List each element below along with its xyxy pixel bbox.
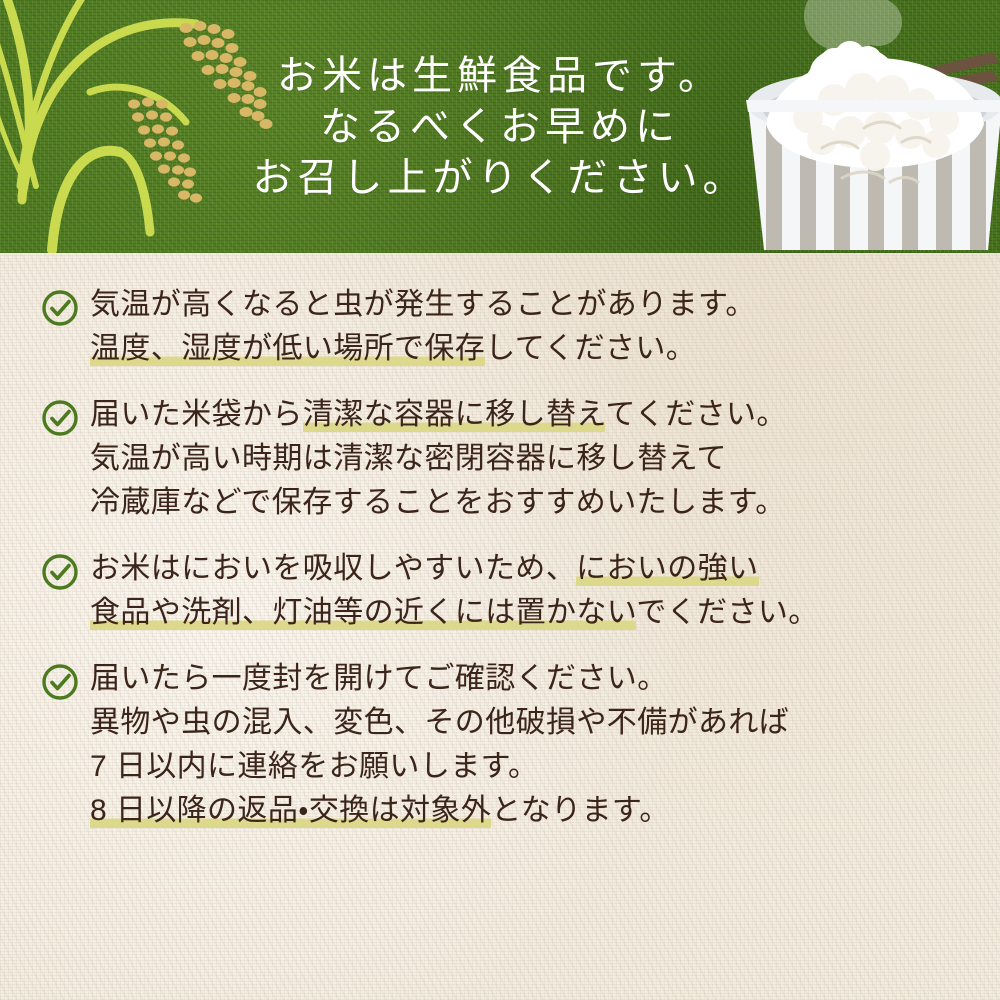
page-title-line-1: お米は生鮮食品です。 — [277, 54, 723, 97]
page-title-line-2: なるべくお早めに — [320, 105, 680, 148]
notice-line: お米はにおいを吸収しやすいため、においの強い — [90, 547, 960, 591]
notice-list: 気温が高くなると虫が発生することがあります。温度、湿度が低い場所で保存してくださ… — [0, 253, 1000, 1000]
rice-bowl-with-chopsticks-illustration — [730, 0, 1000, 253]
notice-item: 届いたら一度封を開けてご確認ください。異物や虫の混入、変色、その他破損や不備があ… — [40, 657, 960, 833]
notice-text-block: お米はにおいを吸収しやすいため、においの強い食品や洗剤、灯油等の近くには置かない… — [90, 547, 960, 635]
rice-storage-notice-poster: お米は生鮮食品です。 なるべくお早めに お召し上がりください。 気温が高くなると… — [0, 0, 1000, 1000]
highlighted-text: 清潔な容器に移し替え — [303, 398, 606, 432]
notice-line: 異物や虫の混入、変色、その他破損や不備があれば — [90, 701, 960, 745]
notice-line: 気温が高い時期は清潔な密閉容器に移し替えて — [90, 437, 960, 481]
check-circle-icon — [40, 662, 80, 702]
highlighted-text: 温度、湿度が低い場所で保存 — [90, 332, 485, 366]
rice-grains — [128, 21, 273, 203]
notice-line: 温度、湿度が低い場所で保存してください。 — [90, 327, 960, 371]
check-circle-icon — [40, 288, 80, 328]
notice-text: 気温が高い時期は清潔な密閉容器に移し替えて — [90, 442, 727, 475]
notice-line: 気温が高くなると虫が発生することがあります。 — [90, 283, 960, 327]
rice-stems — [22, 23, 196, 250]
header-banner: お米は生鮮食品です。 なるべくお早めに お召し上がりください。 — [0, 0, 1000, 253]
notice-text-block: 届いた米袋から清潔な容器に移し替えてください。気温が高い時期は清潔な密閉容器に移… — [90, 393, 960, 525]
highlighted-text: 食品や洗剤、灯油等の近くには置かない — [90, 596, 636, 630]
notice-text: してください。 — [485, 332, 696, 365]
highlighted-text: 8 日以降の返品・交換は対象外 — [90, 794, 491, 828]
notice-line: 冷蔵庫などで保存することをおすすめいたします。 — [90, 481, 960, 525]
notice-text: 冷蔵庫などで保存することをおすすめいたします。 — [90, 486, 786, 519]
check-circle-icon — [40, 398, 80, 438]
notice-line: 届いた米袋から清潔な容器に移し替えてください。 — [90, 393, 960, 437]
notice-item: 届いた米袋から清潔な容器に移し替えてください。気温が高い時期は清潔な密閉容器に移… — [40, 393, 960, 525]
notice-text: お米はにおいを吸収しやすいため、 — [90, 552, 576, 585]
notice-text: 届いたら一度封を開けてご確認ください。 — [90, 662, 668, 695]
notice-text: となります。 — [491, 794, 670, 827]
notice-text: 気温が高くなると虫が発生することがあります。 — [90, 288, 756, 321]
notice-item: お米はにおいを吸収しやすいため、においの強い食品や洗剤、灯油等の近くには置かない… — [40, 547, 960, 635]
check-circle-icon — [40, 552, 80, 592]
notice-line: 7 日以内に連絡をお願いします。 — [90, 745, 960, 789]
rice-bowl-icon — [746, 58, 1000, 252]
rice-ear-illustration — [0, 0, 330, 253]
notice-line: 届いたら一度封を開けてご確認ください。 — [90, 657, 960, 701]
highlighted-text: においの強い — [576, 552, 758, 586]
notice-text: 異物や虫の混入、変色、その他破損や不備があれば — [90, 706, 789, 739]
notice-text: 7 日以内に連絡をお願いします。 — [90, 750, 538, 783]
notice-line: 8 日以降の返品・交換は対象外となります。 — [90, 789, 960, 833]
notice-text-block: 届いたら一度封を開けてご確認ください。異物や虫の混入、変色、その他破損や不備があ… — [90, 657, 960, 833]
notice-item: 気温が高くなると虫が発生することがあります。温度、湿度が低い場所で保存してくださ… — [40, 283, 960, 371]
notice-text: てください。 — [605, 398, 787, 431]
notice-line: 食品や洗剤、灯油等の近くには置かないでください。 — [90, 591, 960, 635]
notice-text-block: 気温が高くなると虫が発生することがあります。温度、湿度が低い場所で保存してくださ… — [90, 283, 960, 371]
notice-text: 届いた米袋から — [90, 398, 303, 431]
notice-text: でください。 — [636, 596, 818, 629]
